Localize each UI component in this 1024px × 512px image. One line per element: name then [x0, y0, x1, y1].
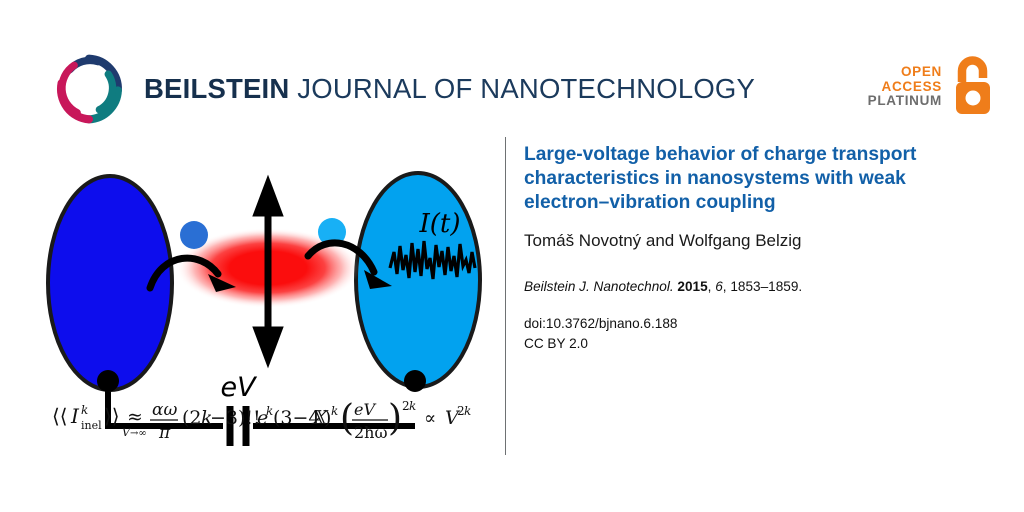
article-doi[interactable]: doi:10.3762/bjnano.6.188 — [524, 314, 996, 334]
current-label: I(t) — [418, 209, 460, 239]
article-title: Large-voltage behavior of charge transpo… — [524, 143, 996, 216]
open-access-wordmark: OPEN ACCESS PLATINUM — [868, 65, 942, 109]
citation-volume: 6 — [715, 279, 723, 294]
citation-comma-2: , — [723, 279, 727, 294]
svg-text:): ) — [388, 398, 402, 439]
open-access-unlocked-padlock-icon — [950, 56, 996, 118]
svg-text:I: I — [70, 404, 80, 428]
open-access-line-access: ACCESS — [868, 80, 942, 95]
large-voltage-asymptotic-cumulant-formula: ⟨⟨ I k inel ⟩⟩ ≈ V →∞ αω π (2 k −3)!! e — [52, 393, 492, 443]
svg-text:−3)!!: −3)!! — [210, 407, 261, 429]
article-license: CC BY 2.0 — [524, 334, 996, 354]
svg-text:k: k — [409, 399, 416, 413]
article-citation: Beilstein J. Nanotechnol. 2015, 6, 1853–… — [524, 278, 996, 296]
svg-text:→∞: →∞ — [130, 428, 147, 439]
brand-light-words: JOURNAL OF NANOTECHNOLOGY — [289, 73, 755, 104]
citation-comma-1: , — [708, 279, 712, 294]
journal-title-wordmark: BEILSTEIN JOURNAL OF NANOTECHNOLOGY — [144, 75, 755, 103]
svg-text:inel: inel — [81, 419, 102, 432]
page-header: BEILSTEIN JOURNAL OF NANOTECHNOLOGY OPEN… — [0, 0, 1024, 140]
open-access-line-open: OPEN — [868, 65, 942, 80]
svg-text:⟩⟩: ⟩⟩ — [104, 404, 120, 428]
open-access-badge: OPEN ACCESS PLATINUM — [868, 56, 996, 118]
graphical-abstract-page: BEILSTEIN JOURNAL OF NANOTECHNOLOGY OPEN… — [0, 0, 1024, 512]
citation-pages: 1853–1859. — [730, 279, 802, 294]
svg-text:2ħω: 2ħω — [354, 423, 388, 442]
open-access-line-platinum: PLATINUM — [868, 94, 942, 109]
svg-text:≈: ≈ — [127, 406, 143, 428]
article-metadata: Large-voltage behavior of charge transpo… — [524, 143, 996, 353]
svg-text:k: k — [81, 403, 88, 417]
svg-text:π: π — [158, 423, 171, 443]
svg-text:k: k — [464, 404, 471, 418]
brand-bold-word: BEILSTEIN — [144, 73, 289, 104]
svg-text:eV: eV — [354, 400, 376, 419]
journal-branding: BEILSTEIN JOURNAL OF NANOTECHNOLOGY — [52, 52, 755, 126]
svg-text:⟨⟨: ⟨⟨ — [52, 404, 68, 428]
citation-year: 2015 — [677, 279, 707, 294]
svg-text:(2: (2 — [182, 407, 202, 429]
right-contact-dot — [404, 370, 426, 392]
beilstein-swirl-logo-icon — [52, 52, 126, 126]
svg-text:(: ( — [340, 398, 354, 439]
left-contact-dot — [97, 370, 119, 392]
vertical-divider — [505, 137, 506, 455]
svg-text:∝: ∝ — [424, 408, 436, 429]
svg-text:k: k — [331, 404, 338, 418]
left-electron-dot — [180, 221, 208, 249]
svg-text:αω: αω — [152, 400, 177, 420]
citation-journal: Beilstein J. Nanotechnol. — [524, 279, 674, 294]
article-authors: Tomáš Novotný and Wolfgang Belzig — [524, 230, 996, 252]
